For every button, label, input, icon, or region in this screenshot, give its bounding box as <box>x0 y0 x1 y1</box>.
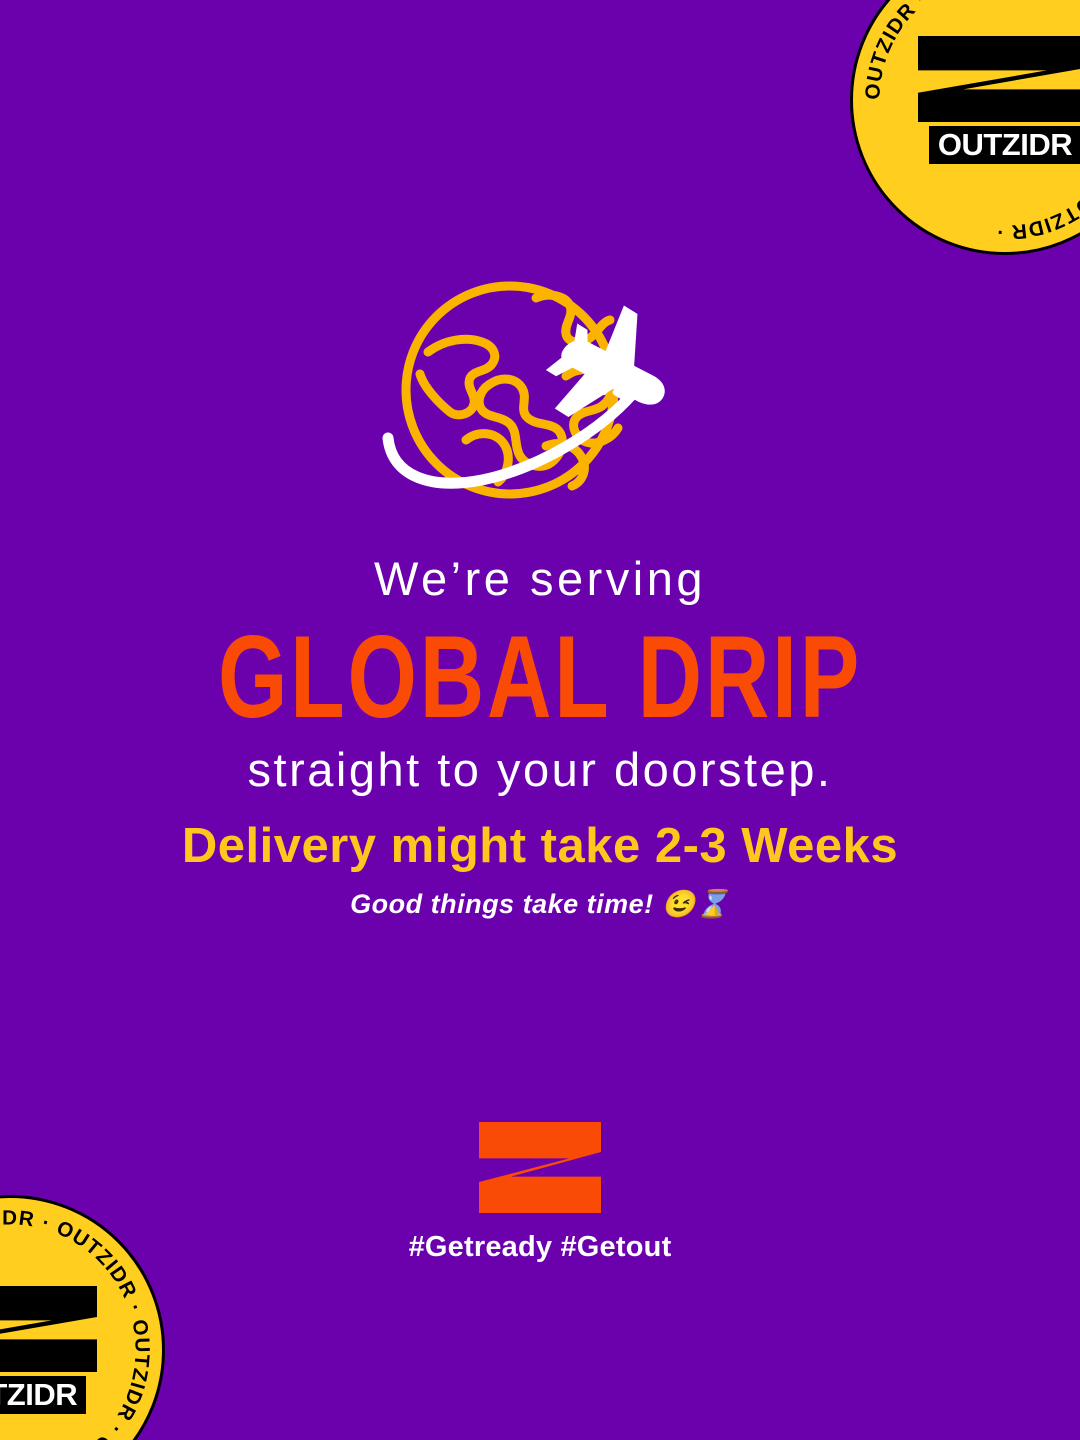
delivery-note: Good things take time! 😉⌛ <box>30 888 1050 920</box>
badge-wordmark: OUTZIDR <box>0 1376 86 1414</box>
delivery-notice: Delivery might take 2-3 Weeks Good thing… <box>0 820 1080 920</box>
hero-illustration <box>0 278 1080 502</box>
z-logo-icon <box>479 1122 601 1213</box>
hero-copy: We’re serving GLOBAL DRIP straight to yo… <box>0 552 1080 798</box>
z-logo-icon <box>918 36 1080 122</box>
z-logo-icon <box>0 1286 97 1372</box>
badge-core-bottom-left: OUTZIDR <box>0 1286 104 1414</box>
badge-wordmark: OUTZIDR <box>929 126 1080 164</box>
hero-kicker: We’re serving <box>40 552 1040 606</box>
footer-branding: #Getready #Getout <box>0 1122 1080 1262</box>
badge-core-top-right: OUTZIDR <box>911 36 1080 164</box>
footer-hashtags: #Getready #Getout <box>409 1233 672 1262</box>
delivery-headline: Delivery might take 2-3 Weeks <box>30 820 1050 874</box>
brand-badge-top-right: OUTZIDR · OUTZIDR · OUTZIDR · OUTZIDR · … <box>850 0 1080 255</box>
globe-airplane-icon <box>370 278 710 502</box>
hero-subline: straight to your doorstep. <box>40 742 1040 798</box>
hero-headline: GLOBAL DRIP <box>75 612 1005 743</box>
promo-poster: OUTZIDR · OUTZIDR · OUTZIDR · OUTZIDR · … <box>0 0 1080 1440</box>
